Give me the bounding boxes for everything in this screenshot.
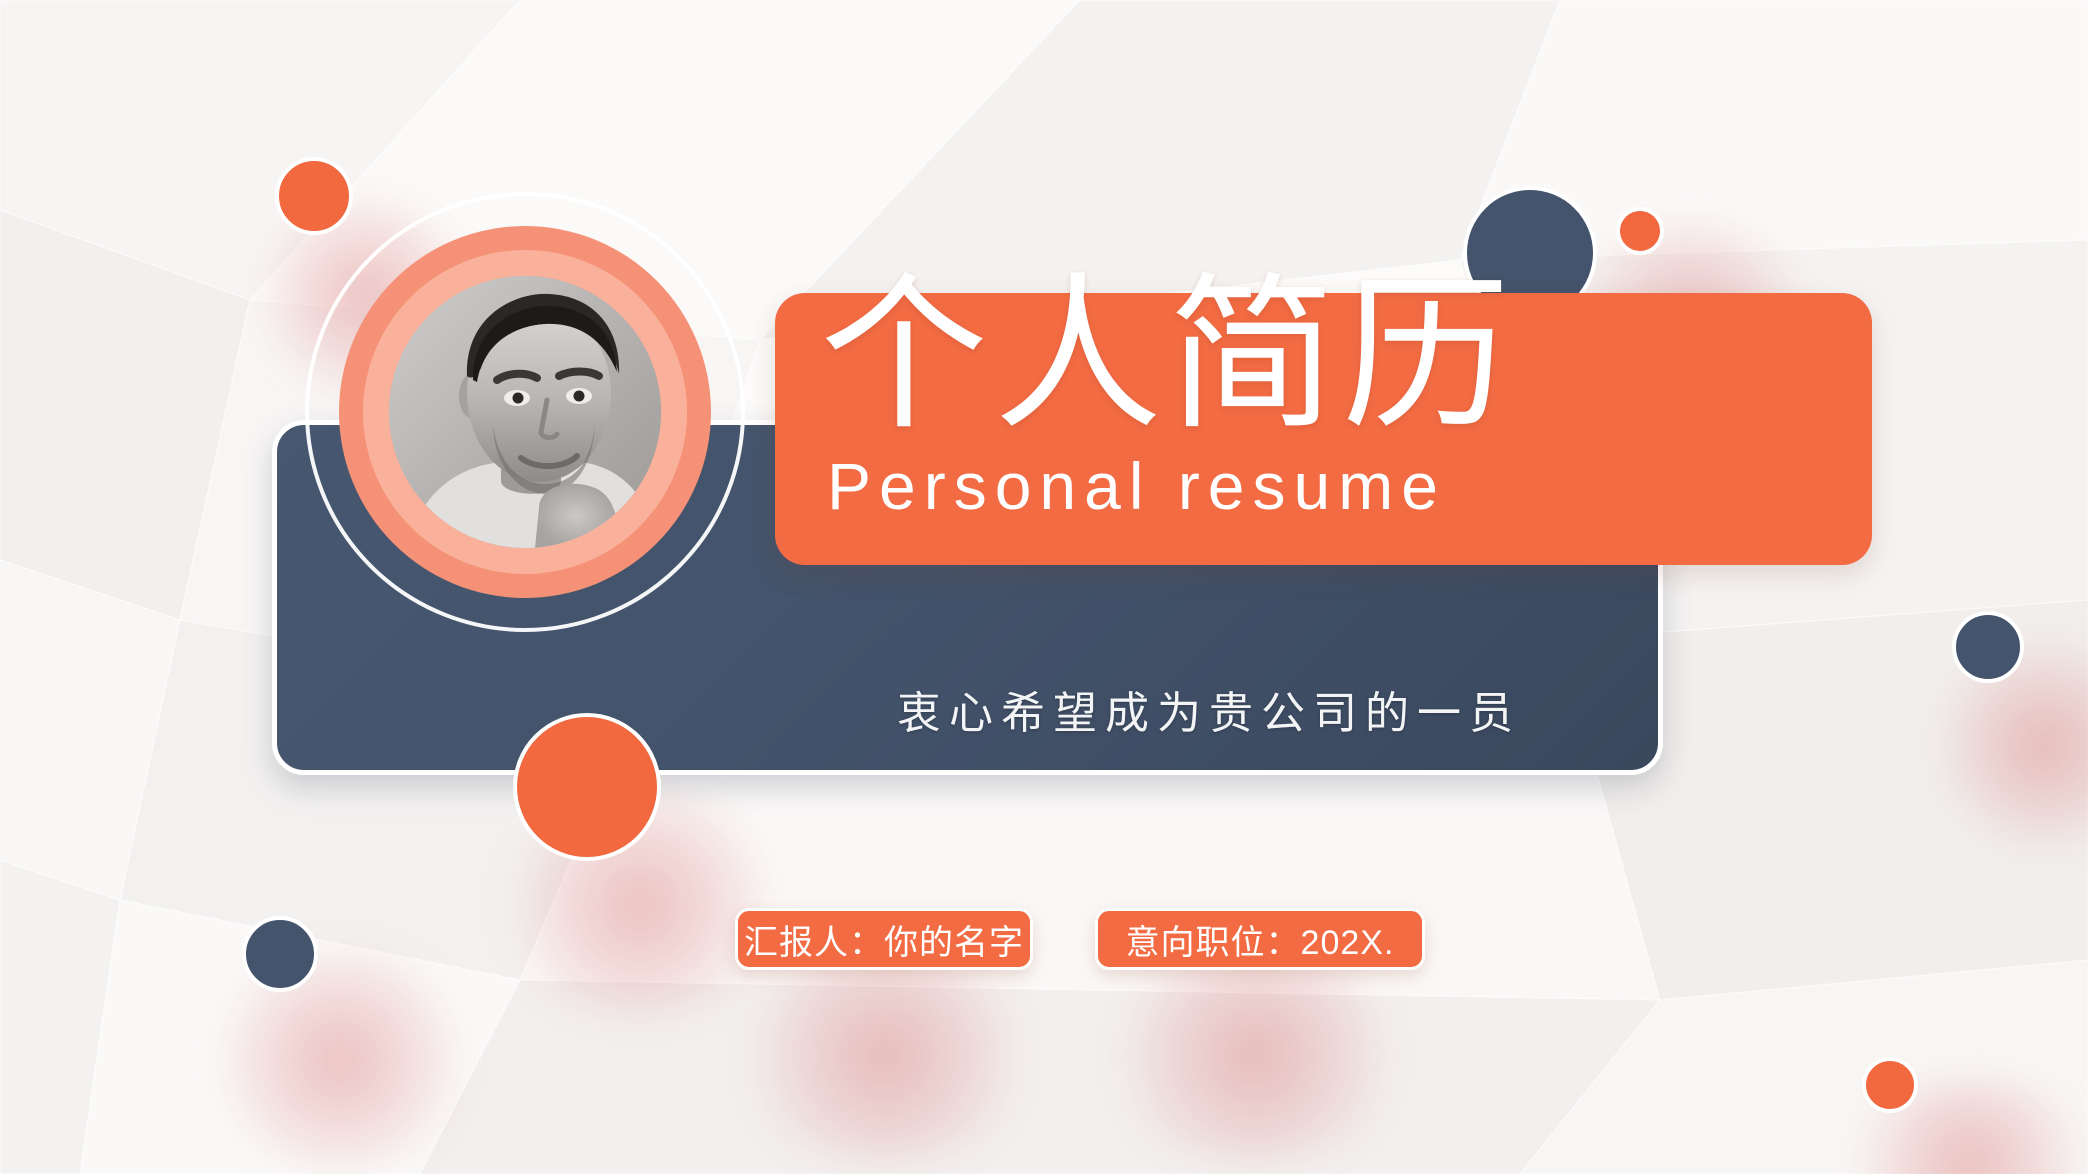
tagline-text: 衷心希望成为贵公司的一员 xyxy=(897,677,1521,741)
dot-orange-upper-right xyxy=(1616,207,1664,255)
dot-navy-bottom-left xyxy=(242,916,318,992)
page-subtitle: Personal resume xyxy=(827,453,1446,519)
avatar-outline-ring xyxy=(305,192,745,632)
label-position: 意向职位：202X. xyxy=(1095,908,1425,970)
dot-orange-bottom-right xyxy=(1862,1057,1918,1113)
label-reporter: 汇报人：你的名字 xyxy=(735,908,1033,970)
dot-navy-right xyxy=(1952,611,2024,683)
presentation-slide: 衷心希望成为贵公司的一员 个人简历 Personal resume xyxy=(0,0,2088,1174)
title-panel: 个人简历 Personal resume xyxy=(775,293,1872,565)
dot-orange-lower-left xyxy=(513,713,661,861)
page-title: 个人简历 xyxy=(820,271,1516,439)
avatar xyxy=(305,192,745,632)
